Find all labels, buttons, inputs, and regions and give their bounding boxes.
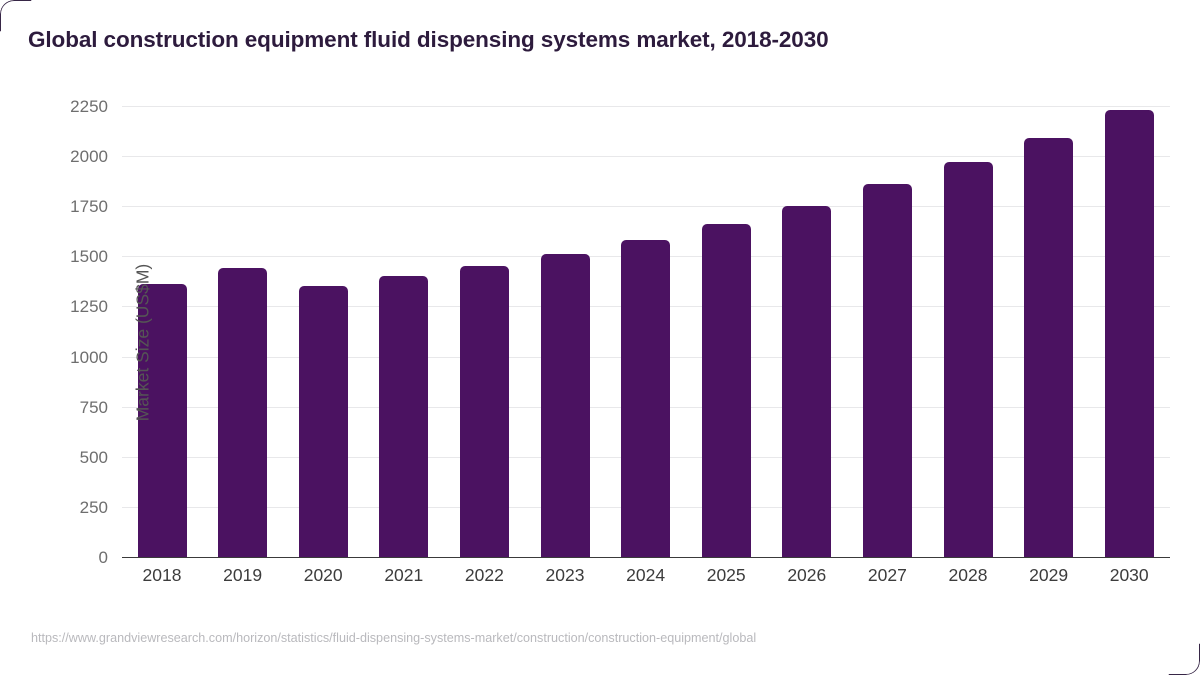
bar-2019[interactable] <box>218 268 267 557</box>
y-axis-tick-label: 1750 <box>46 198 108 215</box>
bar-2023[interactable] <box>541 254 590 557</box>
bar-2027[interactable] <box>863 184 912 557</box>
x-axis-tick-label-2023: 2023 <box>520 567 610 585</box>
y-axis-tick-label: 2250 <box>46 98 108 115</box>
chart-card: Global construction equipment fluid disp… <box>0 0 1200 675</box>
bar-2030[interactable] <box>1105 110 1154 557</box>
x-axis-tick-label-2022: 2022 <box>439 567 529 585</box>
x-axis-tick-label-2027: 2027 <box>842 567 932 585</box>
bar-2021[interactable] <box>379 276 428 557</box>
bar-2029[interactable] <box>1024 138 1073 557</box>
x-axis-tick-label-2030: 2030 <box>1084 567 1174 585</box>
x-axis-tick-label-2024: 2024 <box>601 567 691 585</box>
bar-2022[interactable] <box>460 266 509 557</box>
bar-2026[interactable] <box>782 206 831 557</box>
x-axis-tick-label-2019: 2019 <box>198 567 288 585</box>
y-axis-tick-label: 1500 <box>46 248 108 265</box>
page-title: Global construction equipment fluid disp… <box>28 26 1168 54</box>
x-axis-tick-label-2029: 2029 <box>1004 567 1094 585</box>
y-axis-tick-label: 500 <box>46 449 108 466</box>
bar-2028[interactable] <box>944 162 993 557</box>
y-axis-tick-label: 2000 <box>46 148 108 165</box>
x-axis-tick-label-2021: 2021 <box>359 567 449 585</box>
x-axis-tick-label-2025: 2025 <box>681 567 771 585</box>
y-axis-tick-label: 1000 <box>46 349 108 366</box>
gridline <box>122 206 1170 207</box>
y-axis-title: Market Size (US$M) <box>133 213 154 473</box>
y-axis-tick-label: 0 <box>46 549 108 566</box>
y-axis-tick-label: 750 <box>46 399 108 416</box>
gridline <box>122 106 1170 107</box>
source-url[interactable]: https://www.grandviewresearch.com/horizo… <box>31 630 936 647</box>
plot-area: Market Size (US$M) <box>122 96 1170 558</box>
x-axis-tick-label-2018: 2018 <box>117 567 207 585</box>
x-axis-tick-label-2020: 2020 <box>278 567 368 585</box>
x-axis-line <box>122 557 1170 558</box>
bar-2024[interactable] <box>621 240 670 557</box>
bar-2025[interactable] <box>702 224 751 557</box>
x-axis-tick-label-2028: 2028 <box>923 567 1013 585</box>
bar-2020[interactable] <box>299 286 348 557</box>
y-axis-tick-label: 1250 <box>46 298 108 315</box>
y-axis-tick-label: 250 <box>46 499 108 516</box>
gridline <box>122 156 1170 157</box>
x-axis-tick-label-2026: 2026 <box>762 567 852 585</box>
